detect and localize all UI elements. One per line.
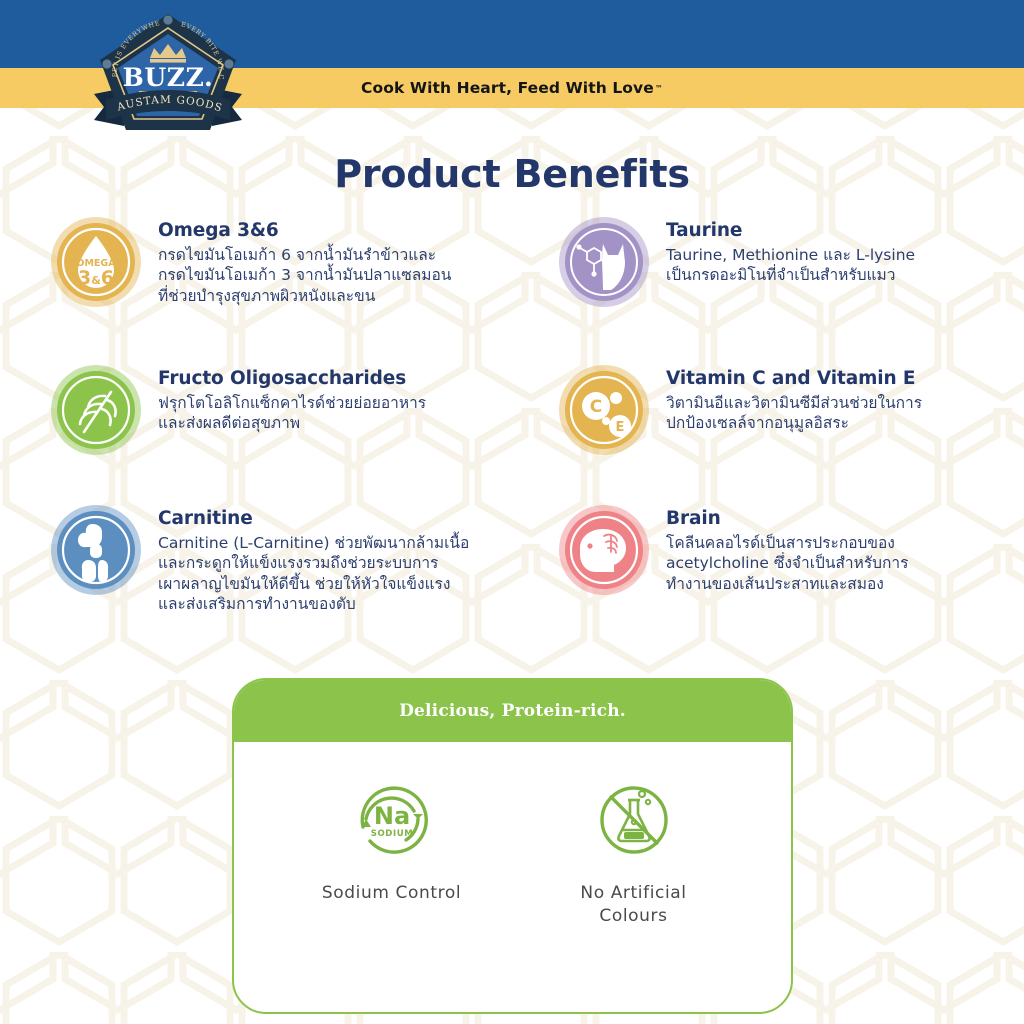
- benefit-carnitine-text: Carnitine Carnitine (L-Carnitine) ช่วยพั…: [158, 502, 469, 615]
- benefit-omega-text: Omega 3&6 กรดไขมันโอเมก้า 6 จากน้ำมันรำข…: [158, 214, 451, 306]
- benefit-title: Carnitine: [158, 508, 469, 529]
- no-flask-icon: [586, 772, 682, 868]
- wheat-leaf-icon: [48, 362, 144, 458]
- benefit-vitamin-c-and-e: C E Vitamin C and Vitamin E วิตามินอีและ…: [556, 362, 1006, 458]
- cat-molecule-icon: [556, 214, 652, 310]
- feature-label: Sodium Control: [302, 882, 482, 905]
- benefit-fos-text: Fructo Oligosaccharides ฟรุกโตโอลิโกแซ็ก…: [158, 362, 426, 434]
- benefit-taurine: Taurine Taurine, Methionine และ L-lysine…: [556, 214, 1006, 310]
- benefits-grid: OMEGA 3&6 Omega 3&6 กรดไขมันโอเมก้า 6 จา…: [0, 214, 1024, 652]
- benefit-description: กรดไขมันโอเมก้า 6 จากน้ำมันรำข้าวและ กรด…: [158, 245, 451, 306]
- page-title: Product Benefits: [0, 152, 1024, 196]
- card-heading: Delicious, Protein-rich.: [234, 680, 791, 742]
- vitamin-bubbles-icon: C E: [556, 362, 652, 458]
- tagline-text: Cook With Heart, Feed With Love: [361, 79, 654, 97]
- feature-label: No Artificial Colours: [544, 882, 724, 928]
- benefit-description: โคลีนคลอไรด์เป็นสารประกอบของ acetylcholi…: [666, 533, 908, 594]
- benefit-title: Fructo Oligosaccharides: [158, 368, 426, 389]
- bone-joint-icon: [48, 502, 144, 598]
- benefits-row-1: OMEGA 3&6 Omega 3&6 กรดไขมันโอเมก้า 6 จา…: [0, 214, 1024, 362]
- benefit-description: ฟรุกโตโอลิโกแซ็กคาไรด์ช่วยย่อยอาหาร และส…: [158, 393, 426, 434]
- svg-text:E: E: [616, 420, 625, 435]
- feature-sodium-control: Na SODIUM Sodium Control: [302, 772, 482, 928]
- svg-text:C: C: [590, 397, 602, 417]
- benefit-brain: Brain โคลีนคลอไรด์เป็นสารประกอบของ acety…: [556, 502, 1006, 598]
- logo-brand-text: BUZZ.: [123, 63, 214, 92]
- benefit-title: Omega 3&6: [158, 220, 451, 241]
- infographic-page: Cook With Heart, Feed With Love™ BUZZ. P…: [0, 0, 1024, 1024]
- benefit-taurine-text: Taurine Taurine, Methionine และ L-lysine…: [666, 214, 915, 286]
- benefit-description: Taurine, Methionine และ L-lysine เป็นกรด…: [666, 245, 915, 286]
- benefit-vitamin-text: Vitamin C and Vitamin E วิตามินอีและวิตา…: [666, 362, 922, 434]
- benefits-row-2: Fructo Oligosaccharides ฟรุกโตโอลิโกแซ็ก…: [0, 362, 1024, 502]
- benefit-description: วิตามินอีและวิตามินซีมีส่วนช่วยในการ ปกป…: [666, 393, 922, 434]
- benefit-brain-text: Brain โคลีนคลอไรด์เป็นสารประกอบของ acety…: [666, 502, 908, 594]
- sodium-icon: Na SODIUM: [344, 772, 440, 868]
- benefit-omega: OMEGA 3&6 Omega 3&6 กรดไขมันโอเมก้า 6 จา…: [48, 214, 528, 310]
- svg-text:Na: Na: [373, 802, 409, 830]
- benefit-fructo-oligosaccharides: Fructo Oligosaccharides ฟรุกโตโอลิโกแซ็ก…: [48, 362, 528, 458]
- brand-logo: BUZZ. PET IS EVERYWHERE EVERY BITE WE CA…: [84, 8, 252, 140]
- protein-card: Delicious, Protein-rich. Na SODIUM Sodiu…: [232, 678, 793, 1014]
- benefit-description: Carnitine (L-Carnitine) ช่วยพัฒนากล้ามเน…: [158, 533, 469, 615]
- benefit-title: Taurine: [666, 220, 915, 241]
- trademark-symbol: ™: [655, 84, 663, 93]
- card-features: Na SODIUM Sodium Control: [234, 742, 791, 928]
- benefit-title: Vitamin C and Vitamin E: [666, 368, 922, 389]
- benefit-title: Brain: [666, 508, 908, 529]
- omega-droplet-icon: OMEGA 3&6: [48, 214, 144, 310]
- benefit-carnitine: Carnitine Carnitine (L-Carnitine) ช่วยพั…: [48, 502, 538, 615]
- dog-brain-icon: [556, 502, 652, 598]
- feature-no-artificial-colours: No Artificial Colours: [544, 772, 724, 928]
- svg-text:SODIUM: SODIUM: [370, 829, 413, 839]
- benefits-row-3: Carnitine Carnitine (L-Carnitine) ช่วยพั…: [0, 502, 1024, 652]
